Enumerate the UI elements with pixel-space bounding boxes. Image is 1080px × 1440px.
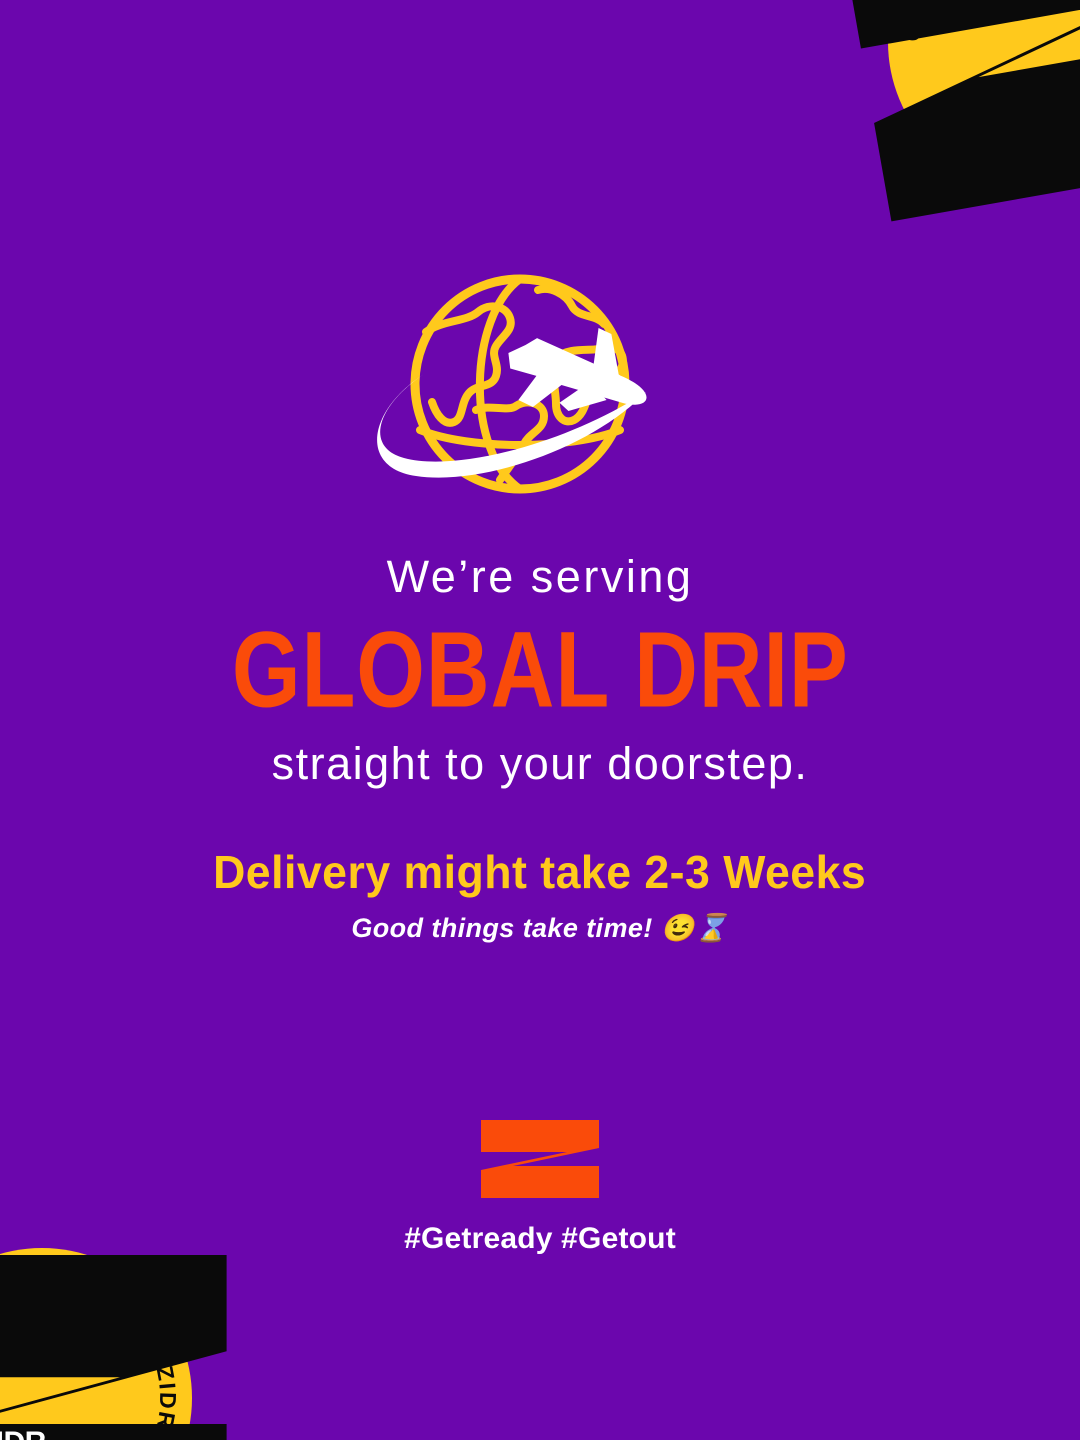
globe-airplane-illustration	[360, 272, 720, 502]
brand-hashtags: #Getready #Getout	[404, 1224, 676, 1254]
delivery-notice: Delivery might take 2-3 Weeks	[213, 849, 866, 895]
stamp-badge-bottom-left: OUTZIDR · OUTZIDR · OUTZIDR · OUTZIDR · …	[0, 1248, 192, 1440]
headline-eyebrow: We’re serving	[387, 554, 694, 599]
page-title: GLOBAL DRIP	[232, 617, 849, 725]
stamp-core-bottom-left: OUTZIDR	[0, 1248, 192, 1440]
z-logo-icon	[479, 1118, 601, 1200]
stamp-core-top-right	[888, 0, 1080, 192]
headline-tail: straight to your doorstep.	[272, 741, 809, 786]
stamp-badge-top-right: OUTZIDR · OUTZIDR · OUTZIDR · OUTZIDR ·	[888, 0, 1080, 192]
poster-canvas: We’re serving GLOBAL DRIP straight to yo…	[0, 0, 1080, 1440]
z-logo-icon	[0, 1206, 234, 1440]
delivery-reassurance: Good things take time! 😉⌛	[351, 915, 728, 942]
